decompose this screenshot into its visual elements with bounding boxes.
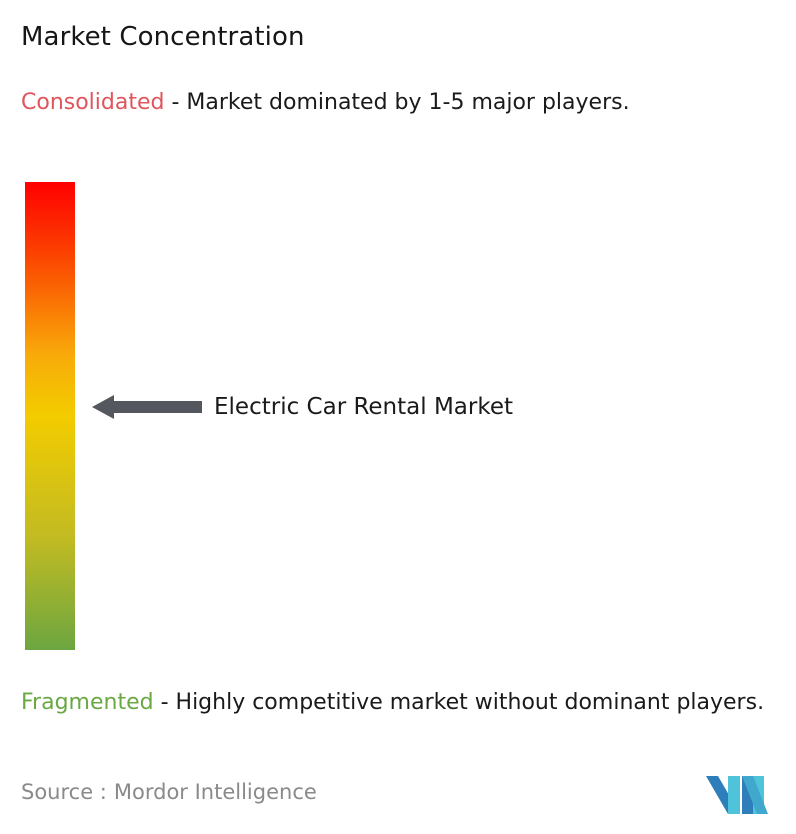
mordor-intelligence-logo [706, 772, 772, 818]
market-concentration-gradient-bar [25, 182, 75, 650]
legend-consolidated: Consolidated - Market dominated by 1-5 m… [21, 86, 777, 119]
market-pointer: Electric Car Rental Market [92, 385, 513, 429]
legend-fragmented: Fragmented - Highly competitive market w… [21, 686, 791, 719]
legend-consolidated-term: Consolidated [21, 90, 164, 115]
legend-fragmented-description: - Highly competitive market without domi… [161, 690, 764, 715]
source-value: Mordor Intelligence [114, 780, 317, 804]
source-attribution: Source :Mordor Intelligence [21, 780, 317, 804]
market-pointer-label: Electric Car Rental Market [214, 394, 513, 420]
page-title: Market Concentration [21, 22, 305, 52]
source-label: Source : [21, 780, 107, 804]
left-arrow-icon [92, 391, 202, 423]
legend-fragmented-term: Fragmented [21, 690, 154, 715]
legend-consolidated-description: - Market dominated by 1-5 major players. [171, 90, 629, 115]
